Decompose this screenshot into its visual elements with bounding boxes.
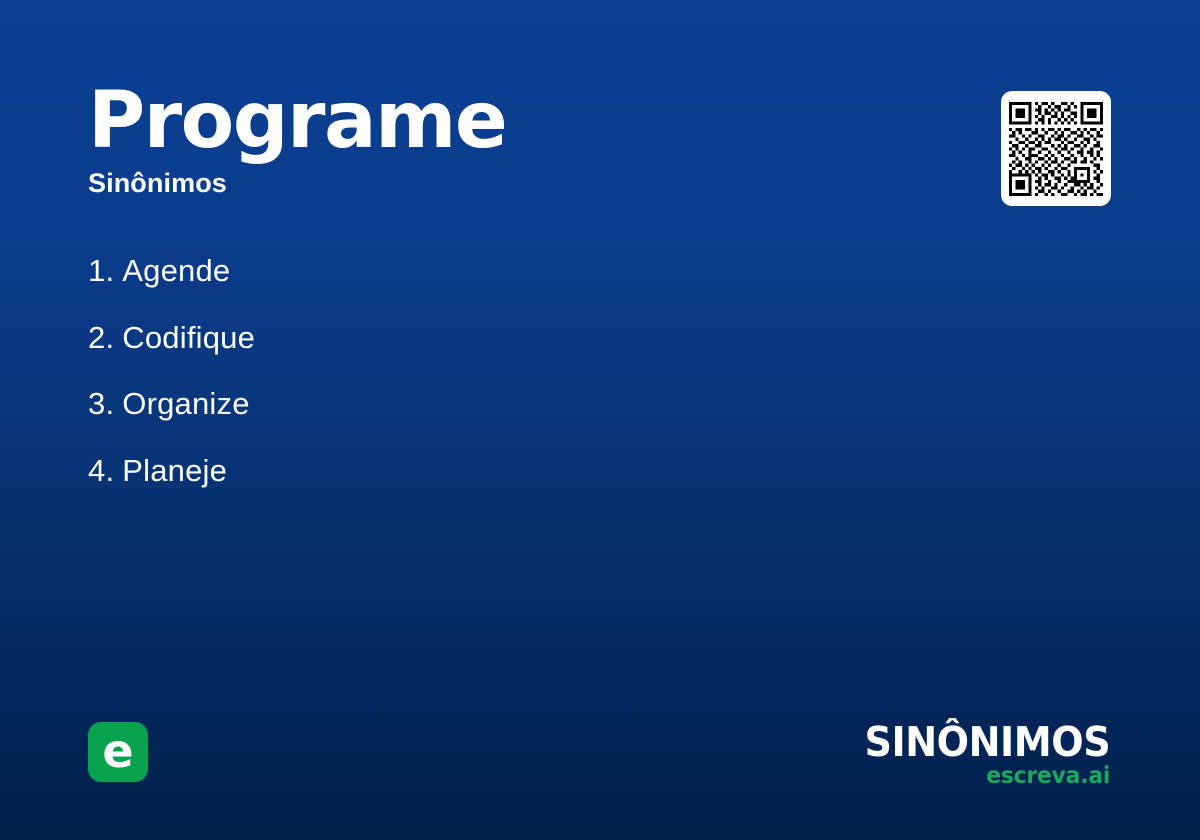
list-item-label: Organize <box>122 386 249 421</box>
brand-wordmark-sub: escreva.ai <box>859 765 1110 788</box>
title-block: Programe Sinônimos <box>88 84 788 199</box>
page-title: Programe <box>88 84 788 159</box>
brand-badge-letter: e <box>102 728 133 774</box>
list-item-label: Agende <box>122 253 230 288</box>
list-item-label: Planeje <box>122 453 227 488</box>
list-item: 1.Agende <box>88 238 808 305</box>
brand-wordmark-main: SINÔNIMOS <box>864 722 1110 763</box>
qr-code-icon <box>1009 102 1103 196</box>
list-item: 3.Organize <box>88 371 808 438</box>
synonym-list: 1.Agende 2.Codifique 3.Organize 4.Planej… <box>88 238 808 504</box>
qr-code-card[interactable] <box>1001 91 1111 206</box>
synonym-card: Programe Sinônimos 1.Agende 2.Codifique … <box>0 0 1200 840</box>
page-subtitle: Sinônimos <box>88 168 788 199</box>
list-item-index: 4. <box>88 453 114 488</box>
list-item-index: 2. <box>88 320 114 355</box>
list-item: 2.Codifique <box>88 305 808 372</box>
list-item-label: Codifique <box>122 320 255 355</box>
list-item-index: 1. <box>88 253 114 288</box>
brand-wordmark: SINÔNIMOS escreva.ai <box>846 722 1110 788</box>
list-item: 4.Planeje <box>88 438 808 505</box>
list-item-index: 3. <box>88 386 114 421</box>
escreva-logo-badge[interactable]: e <box>88 722 148 782</box>
